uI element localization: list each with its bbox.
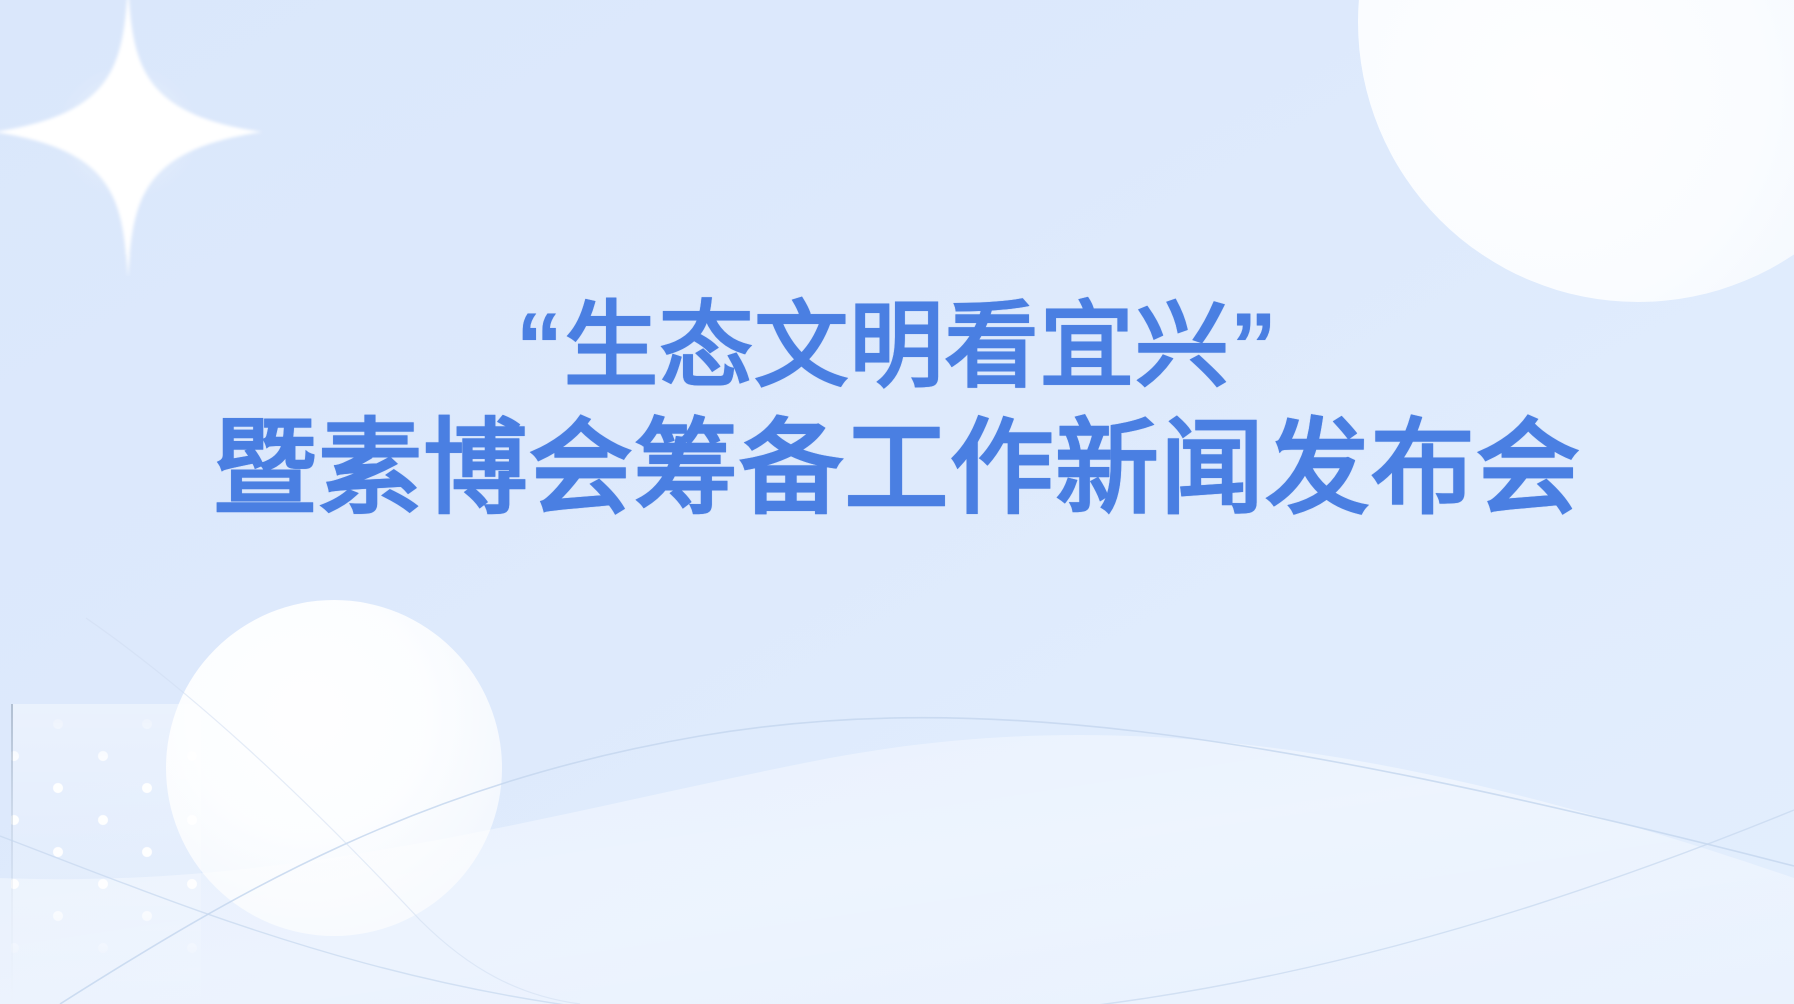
title-card-canvas: “生态文明看宜兴” 暨素博会筹备工作新闻发布会 [0, 0, 1794, 1004]
decor-circle-top-right-icon [1358, 0, 1794, 302]
decor-wave-curves [0, 560, 1794, 1004]
title-line-1: “生态文明看宜兴” [0, 296, 1794, 396]
title-line-2: 暨素博会筹备工作新闻发布会 [0, 414, 1794, 524]
dot-grid-pattern [11, 704, 201, 1004]
page-title: “生态文明看宜兴” 暨素博会筹备工作新闻发布会 [0, 296, 1794, 524]
dot-grid-panel [11, 704, 201, 1004]
panel-edge-line [11, 704, 13, 1004]
decor-circle-bottom-left-icon [166, 600, 502, 936]
sparkle-star-icon [0, 0, 268, 276]
